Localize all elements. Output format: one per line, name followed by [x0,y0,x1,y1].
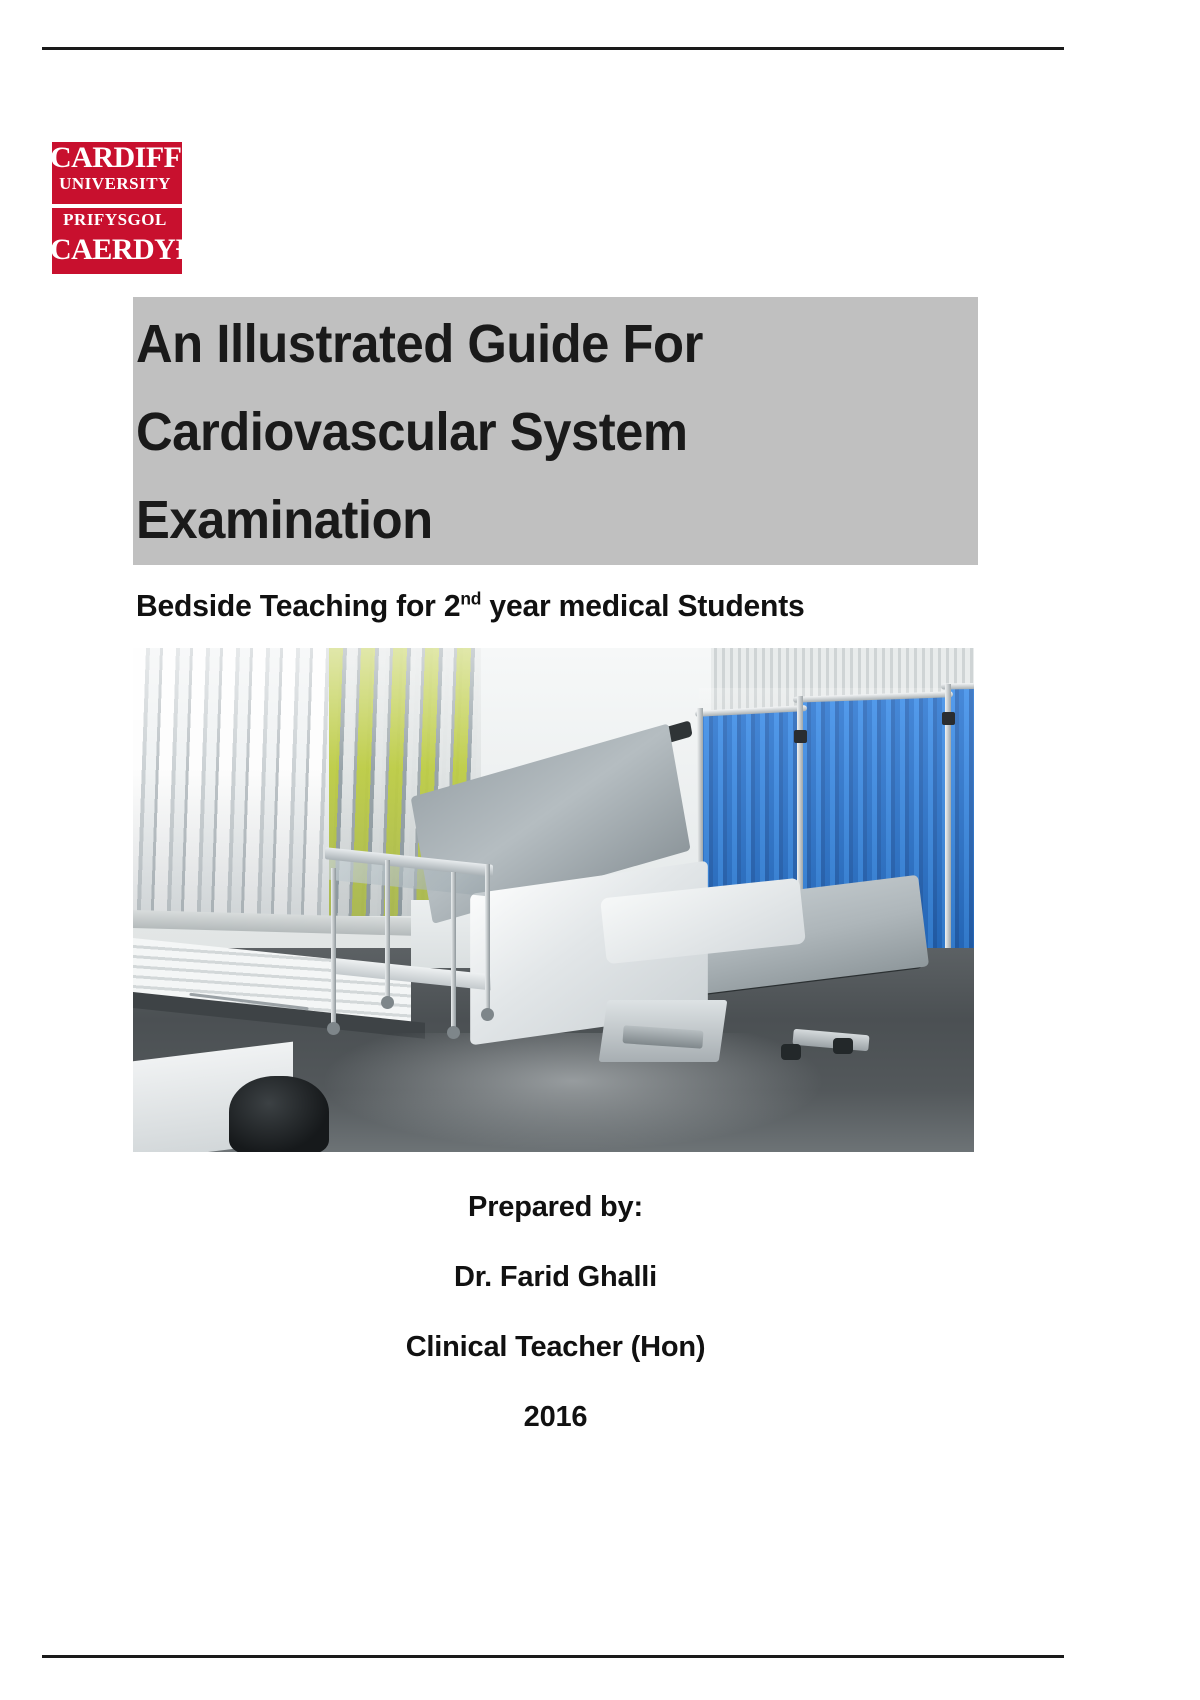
photo-screen-joint-2 [942,712,955,725]
photo-screen-joint-1 [794,730,807,743]
subtitle-text-before: Bedside Teaching for 2 [136,588,460,623]
clinical-examination-room-photo [133,648,974,1152]
photo-couch-wheel-2 [833,1038,853,1054]
photo-trolley-leg-3 [451,872,456,1030]
cover-page: CARDIFF UNIVERSITY PRIFYSGOL CAERDYÐ An … [0,0,1200,1700]
logo-text-prifysgol: PRIFYSGOL [50,211,180,228]
photo-trolley-caster-3 [447,1026,460,1039]
photo-couch-wheel-1 [781,1044,801,1060]
page-title: An Illustrated Guide For Cardiovascular … [136,300,930,564]
page-title-line-1: An Illustrated Guide For [136,300,930,388]
page-subtitle: Bedside Teaching for 2nd year medical St… [136,583,970,629]
byline-author: Dr. Farid Ghalli [133,1242,978,1312]
logo-text-cardiff: CARDIFF [50,143,180,173]
page-title-line-2: Cardiovascular System [136,388,930,476]
photo-trolley-caster-2 [381,996,394,1009]
byline-role: Clinical Teacher (Hon) [133,1312,978,1382]
photo-trolley-caster-4 [481,1008,494,1021]
footer-rule [42,1655,1064,1658]
header-rule [42,47,1064,50]
photo-trolley-leg-1 [331,868,336,1026]
logo-text-caerdydd: CAERDYÐ [50,234,180,266]
subtitle-ordinal-suffix: nd [460,589,481,609]
photo-trolley-caster-1 [327,1022,340,1035]
byline-block: Prepared by: Dr. Farid Ghalli Clinical T… [133,1172,978,1452]
byline-year: 2016 [133,1382,978,1452]
logo-text-university: UNIVERSITY [50,175,180,192]
page-title-line-3: Examination [136,476,930,564]
photo-office-chair [229,1076,329,1152]
subtitle-text-after: year medical Students [481,588,804,623]
photo-trolley-leg-4 [485,864,490,1012]
photo-trolley-leg-2 [385,860,390,1000]
cardiff-university-logo: CARDIFF UNIVERSITY PRIFYSGOL CAERDYÐ [50,128,234,288]
byline-prepared-by: Prepared by: [133,1172,978,1242]
photo-floor-light-reflection [313,1033,833,1152]
